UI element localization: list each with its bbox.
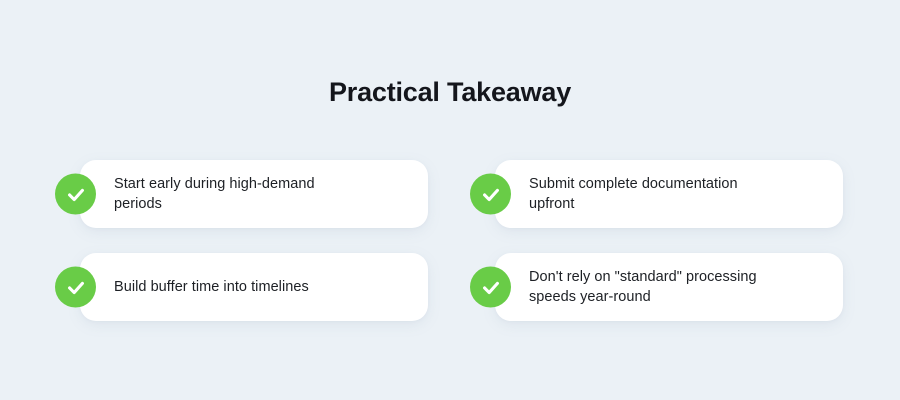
- takeaway-card: Start early during high-demand periods: [80, 160, 428, 228]
- check-circle-icon: [470, 174, 511, 215]
- takeaway-text: Don't rely on "standard" processing spee…: [529, 267, 781, 307]
- takeaway-card-grid: Start early during high-demand periods S…: [80, 160, 843, 321]
- check-circle-icon: [470, 267, 511, 308]
- takeaway-card: Don't rely on "standard" processing spee…: [495, 253, 843, 321]
- takeaway-text: Build buffer time into timelines: [114, 277, 309, 297]
- takeaway-card: Build buffer time into timelines: [80, 253, 428, 321]
- takeaway-text: Submit complete documentation upfront: [529, 174, 781, 214]
- takeaway-text: Start early during high-demand periods: [114, 174, 366, 214]
- takeaway-card: Submit complete documentation upfront: [495, 160, 843, 228]
- page-title: Practical Takeaway: [0, 76, 900, 108]
- takeaway-infographic: Practical Takeaway Start early during hi…: [0, 0, 900, 400]
- check-circle-icon: [55, 174, 96, 215]
- check-circle-icon: [55, 267, 96, 308]
